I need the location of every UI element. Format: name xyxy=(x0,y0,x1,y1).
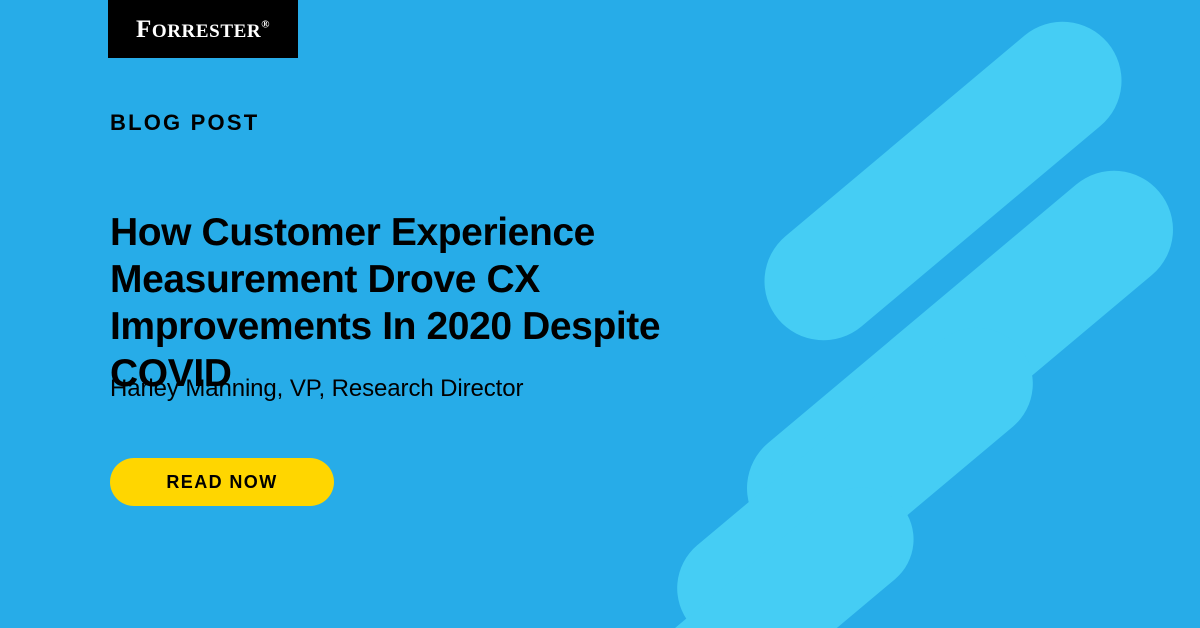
forrester-blog-promo-banner: HONG KONG CHINA xyxy=(0,0,1200,628)
author-byline: Harley Manning, VP, Research Director xyxy=(110,375,523,403)
page-title: How Customer Experience Measurement Drov… xyxy=(110,209,670,397)
artwork-panel: HONG KONG CHINA xyxy=(580,0,1200,628)
forrester-logo[interactable]: FORRESTER® xyxy=(108,0,298,58)
forrester-logo-text: FORRESTER® xyxy=(136,17,270,42)
content-type-label: BLOG POST xyxy=(110,112,259,134)
read-now-button[interactable]: READ NOW xyxy=(110,458,334,506)
